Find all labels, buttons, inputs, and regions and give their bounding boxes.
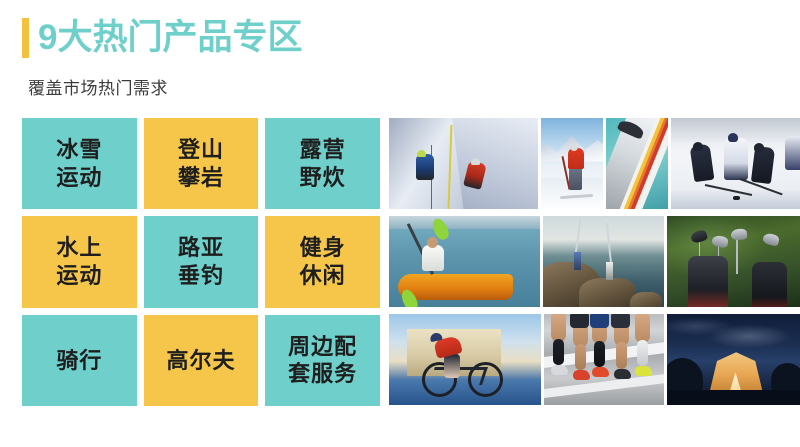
category-line: 周边配	[288, 333, 357, 361]
category-tile-water-sports[interactable]: 水上 运动	[22, 216, 137, 307]
shoreline-rock	[579, 278, 635, 307]
running-shorts	[570, 314, 589, 328]
page-subtitle: 覆盖市场热门需求	[28, 74, 168, 99]
skis	[560, 194, 594, 199]
rock-fishing-photo	[543, 216, 664, 307]
night-ground	[667, 390, 800, 405]
running-shoe	[573, 370, 590, 380]
angler-figure	[574, 252, 581, 270]
ski-equipment-photo	[606, 118, 668, 209]
climbing-helmet	[417, 150, 426, 157]
ice-climbing-photo	[389, 118, 538, 209]
category-line: 冰雪	[56, 136, 102, 164]
skier-jacket	[568, 148, 584, 169]
runner-shin	[575, 344, 586, 370]
category-line: 健身	[300, 234, 346, 262]
category-line: 水上	[56, 234, 102, 262]
running-shoe	[635, 366, 652, 376]
runner-thigh	[551, 314, 566, 342]
club-head	[762, 232, 780, 247]
runner-leg	[635, 314, 650, 366]
category-tile-fitness-leisure[interactable]: 健身 休闲	[265, 216, 380, 307]
category-tile-camping[interactable]: 露营 野炊	[265, 118, 380, 209]
title-accent-bar	[22, 18, 29, 58]
fishing-rod	[606, 223, 612, 265]
runner-shin	[594, 341, 605, 367]
hockey-player	[751, 146, 775, 184]
shoreline-rock	[630, 292, 661, 307]
title-row: 9大热门产品专区	[22, 18, 302, 58]
photo-row-cycling-camping	[389, 314, 800, 405]
cycling-photo	[389, 314, 541, 405]
category-line: 登山	[178, 136, 224, 164]
category-line: 攀岩	[178, 164, 224, 192]
runner-shin	[637, 340, 648, 366]
category-line: 路亚	[178, 234, 224, 262]
category-tile-cycling[interactable]: 骑行	[22, 315, 137, 406]
photo-row-winter	[389, 118, 800, 209]
hockey-player	[785, 136, 800, 170]
category-line: 露营	[300, 136, 346, 164]
category-tile-golf[interactable]: 高尔夫	[144, 315, 259, 406]
climber-figure	[416, 154, 434, 180]
kayaking-photo	[389, 216, 540, 307]
club-head	[690, 228, 709, 243]
hockey-puck	[733, 196, 740, 200]
category-line: 运动	[56, 262, 102, 290]
hockey-helmet	[693, 142, 703, 151]
category-tile-mountaineering[interactable]: 登山 攀岩	[144, 118, 259, 209]
page-title: 9大热门产品专区	[38, 18, 302, 58]
angler-figure	[606, 262, 613, 280]
running-shoe	[592, 367, 609, 377]
fishing-rod	[574, 218, 581, 256]
kayak-hull	[398, 274, 513, 300]
category-line: 高尔夫	[166, 347, 235, 375]
skier-legs	[569, 168, 582, 190]
category-line: 垂钓	[178, 262, 224, 290]
kayaker-head	[427, 237, 438, 248]
golf-bag	[752, 262, 787, 308]
club-shaft	[736, 236, 738, 274]
climbing-helmet	[471, 158, 480, 165]
runner-shin	[553, 339, 564, 365]
photo-grid	[389, 118, 800, 406]
club-head	[711, 235, 729, 249]
ice-hockey-photo	[671, 118, 800, 209]
running-shorts	[611, 314, 630, 328]
category-tile-support-services[interactable]: 周边配 套服务	[265, 315, 380, 406]
ski-tip	[617, 119, 646, 141]
category-grid: 冰雪 运动 登山 攀岩 露营 野炊 水上 运动 路亚 垂钓 健身 休闲	[22, 118, 380, 406]
cyclist-legs	[444, 354, 460, 378]
hockey-helmet	[754, 143, 764, 152]
hockey-helmet	[728, 133, 738, 142]
runner-thigh	[635, 314, 650, 343]
golf-bag	[688, 256, 728, 307]
skier-head	[570, 143, 578, 151]
climbing-rope	[447, 125, 451, 209]
page-header: 9大热门产品专区 覆盖市场热门需求	[0, 0, 800, 110]
skiing-photo	[541, 118, 603, 209]
golf-clubs-photo	[667, 216, 800, 307]
category-line: 野炊	[300, 164, 346, 192]
category-line: 套服务	[288, 360, 357, 388]
category-line: 休闲	[300, 262, 346, 290]
club-head	[730, 228, 747, 241]
category-tile-ice-snow[interactable]: 冰雪 运动	[22, 118, 137, 209]
kayaker-torso	[422, 245, 444, 271]
running-shoe	[614, 369, 631, 379]
running-shoe	[551, 365, 568, 375]
night-tent-photo	[667, 314, 800, 405]
photo-row-water-golf	[389, 216, 800, 307]
runner-leg	[551, 314, 566, 365]
running-photo	[544, 314, 664, 405]
runner-shin	[616, 342, 627, 368]
hockey-stick	[705, 184, 752, 196]
category-tile-lure-fishing[interactable]: 路亚 垂钓	[144, 216, 259, 307]
hockey-player	[724, 138, 748, 180]
category-line: 运动	[56, 164, 102, 192]
running-shorts	[590, 314, 609, 328]
category-line: 骑行	[56, 347, 102, 375]
